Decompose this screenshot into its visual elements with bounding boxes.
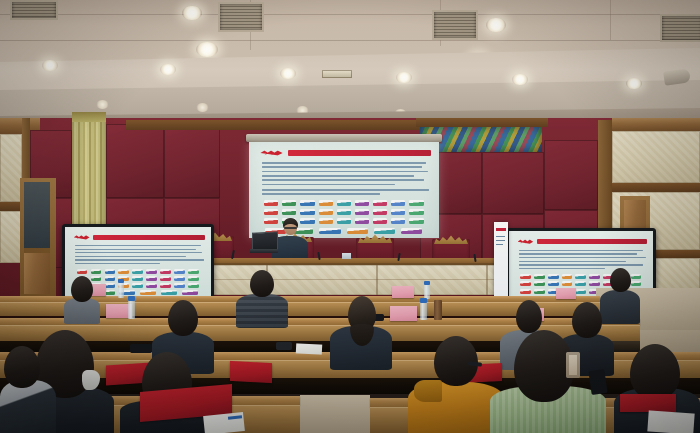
wall-wood-trim (126, 120, 426, 130)
sponsor-logo (520, 281, 531, 286)
recessed-downlight (626, 78, 642, 89)
pink-name-card (556, 288, 576, 299)
sponsor-logo (118, 269, 129, 274)
bottle-cap (118, 279, 124, 283)
slide-body-line (75, 252, 202, 253)
maroon-wall-panel (482, 152, 544, 214)
slide-body-line (519, 257, 646, 258)
water-bottle (420, 302, 427, 320)
sponsor-logo (373, 200, 387, 206)
sponsor-logo (282, 209, 296, 215)
red-emblem-icon (518, 239, 534, 245)
sponsor-logo (146, 276, 157, 281)
sponsor-logo (132, 276, 143, 281)
pink-name-card (390, 306, 417, 321)
recessed-downlight (486, 18, 506, 32)
attendee-hair (250, 270, 274, 297)
ceiling-seam (610, 0, 611, 40)
laptop-base (250, 249, 278, 253)
slide-title-text (537, 239, 647, 244)
sponsor-logo (91, 269, 102, 274)
sponsor-logo (160, 269, 171, 274)
acoustic-panel (612, 131, 700, 183)
exit-sign (322, 70, 352, 78)
list-item (236, 270, 288, 326)
sponsor-logo (282, 200, 296, 206)
banner-line (496, 240, 505, 241)
slide-body-line (262, 171, 427, 173)
banner-title (496, 228, 506, 231)
eyeglasses (276, 342, 292, 350)
rostrum-seam (376, 265, 378, 295)
recessed-downlight (396, 72, 412, 83)
sponsor-logo (374, 228, 395, 234)
slide-body-line (75, 256, 186, 257)
slide-body-line (519, 264, 643, 265)
curtain-rail (72, 112, 106, 122)
handout-paper (647, 410, 694, 433)
sponsor-logo (160, 283, 171, 288)
air-conditioning-vent (10, 0, 58, 20)
slide-body-line (75, 259, 203, 260)
handout-paper (296, 343, 322, 354)
recessed-downlight (280, 68, 296, 79)
water-bottle (424, 284, 430, 299)
slide-body-line (519, 261, 626, 262)
presenter-glasses (284, 227, 297, 229)
sponsor-logo (319, 218, 333, 224)
maroon-wall-panel (544, 140, 598, 210)
sponsor-logo (373, 218, 387, 224)
list-item (0, 346, 56, 433)
pink-name-card (392, 286, 414, 298)
attendee-hair (514, 330, 574, 402)
screen-roller-housing (246, 134, 442, 142)
red-document-folder (230, 361, 272, 383)
sponsor-logo (548, 281, 559, 286)
attendee-hair (71, 276, 93, 302)
slide-body-line (262, 175, 414, 177)
sponsor-logo (575, 281, 586, 286)
recessed-downlight (96, 100, 109, 109)
sponsor-logo (337, 200, 351, 206)
sponsor-logo (391, 218, 405, 224)
sponsor-logo (534, 274, 545, 279)
air-conditioning-vent (432, 10, 478, 40)
sponsor-logo (337, 218, 351, 224)
attendee-hair (630, 344, 680, 400)
wall-wood-trim (612, 118, 700, 131)
slide-body-line (262, 162, 425, 164)
list-item (64, 276, 100, 320)
sponsor-logo (188, 283, 199, 288)
sponsor-logo (140, 290, 156, 295)
sponsor-logo (534, 289, 545, 294)
bottle-cap (128, 296, 135, 301)
sponsor-logo (264, 209, 278, 215)
slide-body-line (262, 189, 429, 191)
sponsor-logo (355, 200, 369, 206)
sponsor-logo (548, 274, 559, 279)
attendee-hair (610, 268, 631, 292)
sponsor-logo (146, 269, 157, 274)
recessed-downlight (42, 60, 58, 71)
sponsor-logo (355, 209, 369, 215)
recessed-downlight (196, 103, 209, 112)
sponsor-logo (391, 209, 405, 215)
sponsor-logo (373, 209, 387, 215)
sponsor-logo (188, 269, 199, 274)
air-conditioning-vent (660, 14, 700, 42)
ceiling-seam (0, 14, 700, 15)
acoustic-panel (0, 134, 22, 202)
slide-body-line (262, 193, 380, 195)
banner-line (496, 236, 505, 237)
recessed-downlight (160, 64, 176, 75)
sponsor-logo (319, 228, 340, 234)
air-conditioning-vent (218, 2, 264, 32)
sponsor-logo (562, 274, 573, 279)
sponsor-logo (188, 276, 199, 281)
sponsor-logo (562, 281, 573, 286)
recessed-downlight (182, 6, 202, 20)
recessed-downlight (196, 42, 218, 57)
sponsor-logo (174, 276, 185, 281)
slide-body-line (75, 245, 201, 246)
water-bottle (128, 300, 135, 319)
banner-line (496, 244, 503, 245)
slide-title-text (288, 150, 432, 155)
sponsor-logo (146, 283, 157, 288)
sponsor-logo (105, 269, 116, 274)
sponsor-logo (174, 283, 185, 288)
slide-body-line (519, 253, 637, 254)
sponsor-logo (520, 289, 531, 294)
sponsor-logo (347, 228, 368, 234)
water-bottle (118, 282, 124, 298)
sponsor-logo (534, 281, 545, 286)
sponsor-logo (132, 283, 143, 288)
rostrum-seam (486, 265, 488, 295)
maroon-wall-panel (106, 124, 164, 198)
sponsor-logo (300, 200, 314, 206)
sponsor-logo (355, 218, 369, 224)
slide-body-line (519, 268, 605, 269)
door-lower-panel (24, 253, 50, 294)
acoustic-panel (0, 211, 22, 263)
conference-hall-photo (0, 0, 700, 433)
slide-body-line (262, 179, 424, 181)
mobile-phone[interactable] (588, 369, 607, 395)
sponsor-logo (575, 289, 586, 294)
sponsor-logo (409, 200, 423, 206)
ceiling-seam (0, 40, 700, 41)
light-green-sweater-attendee (490, 330, 606, 433)
bottle-cap (420, 298, 427, 303)
red-emblem-icon (260, 150, 282, 156)
maroon-wall-panel (164, 126, 220, 198)
sponsor-logo (589, 281, 600, 286)
sponsor-logo (319, 200, 333, 206)
slide-body-line (75, 249, 196, 250)
wall-wood-trim (612, 183, 700, 192)
wall-wood-trim (416, 118, 548, 127)
slide-body-line (262, 184, 395, 186)
red-emblem-icon (74, 235, 90, 240)
sponsor-logo (401, 228, 422, 234)
tissue-box (342, 253, 351, 259)
sponsor-logo (105, 283, 116, 288)
sponsor-logo (589, 274, 600, 279)
sponsor-logo (409, 218, 423, 224)
sponsor-logo (105, 276, 116, 281)
sponsor-logo (300, 209, 314, 215)
sponsor-logo (174, 269, 185, 274)
roll-up-banner (494, 222, 508, 298)
list-item (330, 296, 392, 368)
sponsor-logo (391, 200, 405, 206)
recessed-downlight (512, 74, 528, 85)
sponsor-logo (575, 274, 586, 279)
sponsor-logo (319, 209, 333, 215)
hair-clip (566, 352, 580, 378)
slide-body-line (262, 166, 422, 168)
sponsor-logo (161, 290, 177, 295)
sponsor-logo (520, 274, 531, 279)
brown-thermos (434, 300, 442, 320)
attendee-hair (4, 346, 40, 388)
attendee-hair (516, 300, 542, 333)
presenter-face (284, 224, 297, 235)
slide-body-line (519, 250, 643, 251)
bottle-cap (424, 281, 430, 285)
attendee-torso (236, 294, 288, 328)
face-mask (82, 370, 100, 390)
slide-title-text (93, 235, 205, 240)
sponsor-logo (77, 269, 88, 274)
aisle-step (300, 395, 370, 433)
sponsor-logo (132, 269, 143, 274)
sponsor-logo (409, 209, 423, 215)
sponsor-logo (160, 276, 171, 281)
sponsor-logo (337, 209, 351, 215)
red-document-folder (620, 394, 676, 412)
jacket-hood (414, 380, 442, 402)
attendee-torso (0, 380, 56, 433)
slide-body-line (75, 263, 160, 264)
sponsor-logo (264, 200, 278, 206)
attendee-hair (168, 300, 198, 336)
sponsor-logo (182, 290, 198, 295)
